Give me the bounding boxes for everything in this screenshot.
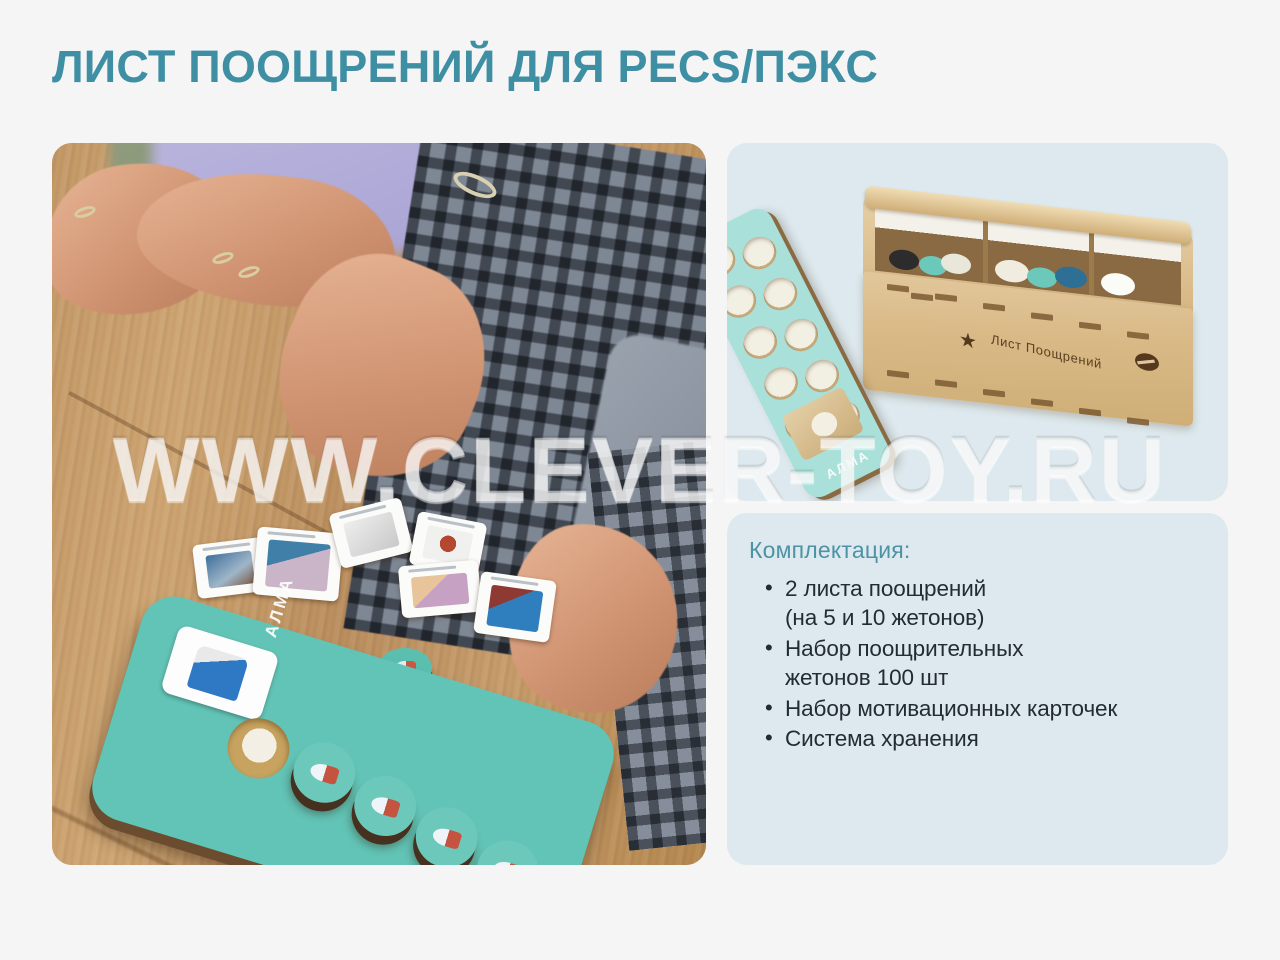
pecs-card xyxy=(252,526,344,601)
motivation-card xyxy=(160,624,280,721)
pecs-card xyxy=(473,571,557,643)
list-item-line1: Набор мотивационных карточек xyxy=(785,696,1117,721)
list-item: • 2 листа поощрений (на 5 и 10 жетонов) xyxy=(749,574,1202,633)
list-item-line2: (на 5 и 10 жетонов) xyxy=(785,603,1202,632)
reward-token xyxy=(347,768,424,844)
list-item: • Набор мотивационных карточек xyxy=(749,694,1202,723)
reward-token xyxy=(469,833,546,865)
spec-heading: Комплектация: xyxy=(749,537,1202,564)
list-item-line2: жетонов 100 шт xyxy=(785,663,1202,692)
specification-panel: Комплектация: • 2 листа поощрений (на 5 … xyxy=(727,513,1228,865)
star-icon: ★ xyxy=(959,329,977,353)
reward-slot xyxy=(727,239,741,283)
product-photo-panel: ★ Лист Поощрений АЛМА xyxy=(727,143,1228,501)
box-engraving-label: Лист Поощрений xyxy=(991,331,1102,371)
bullet-icon: • xyxy=(765,724,773,753)
list-item: • Набор поощрительных жетонов 100 шт xyxy=(749,634,1202,693)
page-title: ЛИСТ ПООЩРЕНИЙ ДЛЯ PECS/ПЭКС xyxy=(52,42,878,92)
reward-token xyxy=(286,735,363,811)
list-item-line1: Система хранения xyxy=(785,726,979,751)
reward-slot xyxy=(727,280,762,324)
reward-slot xyxy=(779,313,824,357)
spec-list: • 2 листа поощрений (на 5 и 10 жетонов) … xyxy=(749,574,1202,754)
card-slot xyxy=(781,386,864,461)
wooden-storage-box: ★ Лист Поощрений xyxy=(855,198,1205,448)
list-item-line1: 2 листа поощрений xyxy=(785,576,986,601)
list-item: • Система хранения xyxy=(749,724,1202,753)
reward-slot xyxy=(738,321,783,365)
photo-usage-scene: АЛМА xyxy=(52,143,706,865)
brand-mark-icon xyxy=(1134,352,1160,371)
slide-root: ЛИСТ ПООЩРЕНИЙ ДЛЯ PECS/ПЭКС АЛМА xyxy=(0,0,1280,960)
reward-slot-empty xyxy=(220,711,297,787)
list-item-line1: Набор поощрительных xyxy=(785,636,1023,661)
reward-slot xyxy=(759,361,804,405)
pecs-card xyxy=(398,560,482,619)
reward-slot xyxy=(737,231,782,275)
bullet-icon: • xyxy=(765,694,773,723)
reward-token xyxy=(408,800,485,865)
sheet-brand-logo: АЛМА xyxy=(823,447,872,482)
bullet-icon: • xyxy=(765,574,773,603)
reward-slot xyxy=(758,272,803,316)
bullet-icon: • xyxy=(765,634,773,663)
